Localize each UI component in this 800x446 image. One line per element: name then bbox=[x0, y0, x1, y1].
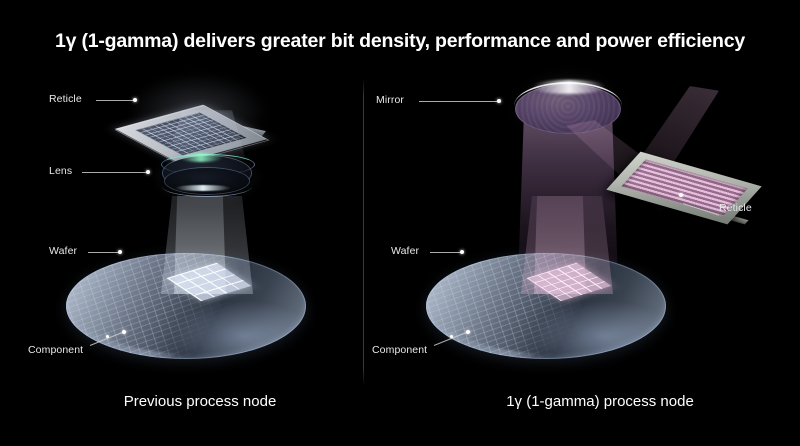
leader-lens bbox=[82, 172, 148, 173]
leader-dot-component-secondary bbox=[106, 335, 109, 338]
leader-dot-reticle-right bbox=[679, 193, 683, 197]
caption-previous-process-node: Previous process node bbox=[40, 393, 360, 410]
leader-wafer-right bbox=[430, 252, 462, 253]
leader-dot-component-right bbox=[466, 330, 470, 334]
label-mirror: Mirror bbox=[376, 94, 404, 106]
left-lens-element bbox=[157, 152, 257, 200]
leader-mirror bbox=[419, 101, 499, 102]
leader-dot-wafer-right bbox=[460, 250, 464, 254]
leader-dot-mirror bbox=[497, 99, 501, 103]
right-reticle-plate bbox=[615, 163, 765, 225]
label-component: Component bbox=[28, 344, 83, 356]
panel-one-gamma-process-node: Mirror Reticle Wafer Component 1γ (1-gam… bbox=[364, 0, 800, 446]
leader-dot-wafer bbox=[118, 250, 122, 254]
label-lens: Lens bbox=[49, 165, 72, 177]
label-wafer: Wafer bbox=[49, 245, 77, 257]
diagram-canvas: 1γ (1-gamma) delivers greater bit densit… bbox=[0, 0, 800, 446]
label-wafer-right: Wafer bbox=[391, 245, 419, 257]
leader-dot-lens bbox=[146, 170, 150, 174]
left-lens-bottom-highlight bbox=[175, 185, 231, 191]
leader-wafer bbox=[88, 252, 120, 253]
leader-dot-component bbox=[122, 330, 126, 334]
right-mirror-rim-highlight bbox=[532, 80, 606, 94]
label-reticle-right: Reticle bbox=[719, 202, 752, 214]
panel-previous-process-node: Reticle Lens Wafer Component Previous pr… bbox=[0, 0, 363, 446]
label-reticle: Reticle bbox=[49, 93, 82, 105]
left-lens-rim-highlight bbox=[179, 153, 223, 162]
leader-reticle bbox=[96, 100, 135, 101]
leader-dot-reticle bbox=[133, 98, 137, 102]
label-component-right: Component bbox=[372, 344, 427, 356]
caption-one-gamma-process-node: 1γ (1-gamma) process node bbox=[440, 393, 760, 410]
leader-dot-component-right-secondary bbox=[450, 335, 453, 338]
